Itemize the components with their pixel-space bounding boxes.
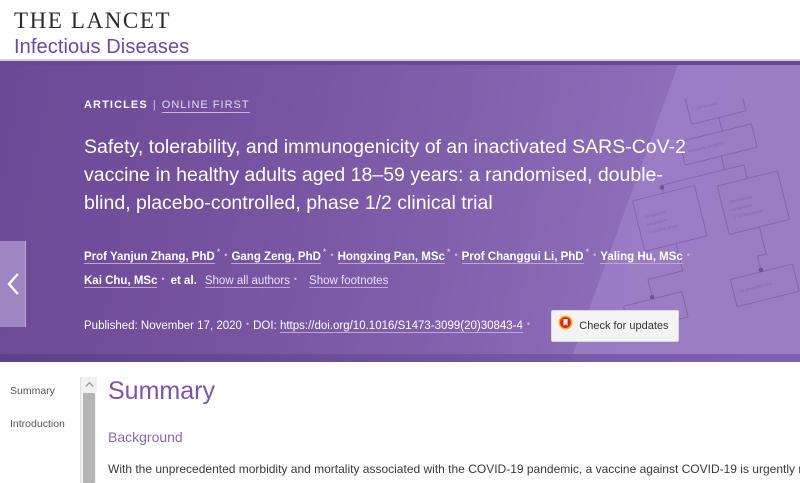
kicker-online-first-link[interactable]: ONLINE FIRST: [162, 99, 250, 113]
author-link[interactable]: Prof Changgui Li, PhD: [462, 251, 584, 264]
author-list: Prof Yanjun Zhang, PhD*•Gang Zeng, PhD*•…: [84, 241, 709, 292]
article-title: Safety, tolerability, and immunogenicity…: [84, 133, 704, 217]
toc-item-summary[interactable]: Summary: [10, 384, 68, 399]
summary-content: Summary Background With the unprecedente…: [108, 362, 800, 483]
scrollbar-thumb[interactable]: [83, 393, 95, 483]
show-all-authors-link[interactable]: Show all authors: [205, 275, 290, 288]
site-masthead: THE LANCET Infectious Diseases: [0, 0, 800, 62]
toc-scrollbar[interactable]: [80, 377, 96, 483]
crossmark-icon: [558, 315, 573, 337]
author-link[interactable]: Prof Yanjun Zhang, PhD: [84, 251, 215, 264]
previous-article-button[interactable]: [0, 241, 26, 327]
published-label: Published:: [84, 320, 138, 332]
author-separator: •: [326, 250, 337, 260]
author-link[interactable]: Gang Zeng, PhD: [231, 251, 320, 264]
scroll-up-button[interactable]: [81, 377, 97, 392]
author-link[interactable]: Kai Chu, MSc: [84, 275, 157, 288]
author-separator: •: [683, 250, 694, 260]
kicker-separator: |: [148, 99, 162, 111]
toc-item-introduction[interactable]: Introduction: [10, 417, 68, 432]
meta-separator: •: [242, 319, 253, 329]
author-separator: •: [450, 250, 461, 260]
summary-heading: Summary: [108, 376, 800, 406]
meta-separator: •: [523, 319, 534, 329]
hero-bottom-band: [0, 354, 800, 362]
publication-meta: Published: November 17, 2020•DOI: https:…: [84, 310, 800, 342]
article-body-section: Summary Introduction Summary Background …: [0, 362, 800, 483]
chevron-up-icon: [85, 381, 94, 388]
check-for-updates-label: Check for updates: [579, 316, 668, 336]
author-separator: •: [157, 274, 168, 284]
author-link[interactable]: Hongxing Pan, MSc: [338, 251, 445, 264]
show-footnotes-link[interactable]: Show footnotes: [309, 275, 388, 288]
masthead-brand[interactable]: THE LANCET Infectious Diseases: [0, 0, 800, 59]
author-separator: •: [589, 250, 600, 260]
journal-name: THE LANCET: [14, 8, 800, 34]
check-for-updates-button[interactable]: Check for updates: [551, 310, 678, 342]
author-separator: •: [290, 274, 301, 284]
author-separator: •: [220, 250, 231, 260]
doi-label: DOI:: [253, 320, 277, 332]
background-subheading: Background: [108, 428, 800, 446]
kicker-section: ARTICLES: [84, 99, 148, 111]
journal-subtitle: Infectious Diseases: [14, 35, 800, 59]
article-toc-sidebar: Summary Introduction: [0, 362, 76, 483]
published-date: November 17, 2020: [141, 320, 242, 332]
chevron-left-icon: [6, 273, 20, 295]
et-al-label: et al.: [169, 275, 197, 287]
doi-link[interactable]: https://doi.org/10.1016/S1473-3099(20)30…: [280, 320, 523, 333]
background-body-text: With the unprecedented morbidity and mor…: [108, 460, 800, 478]
article-page: THE LANCET Infectious Diseases: [0, 0, 800, 483]
article-kicker: ARTICLES|ONLINE FIRST: [84, 99, 800, 111]
author-link[interactable]: Yaling Hu, MSc: [600, 251, 682, 264]
article-hero-banner: 144 enrolled Randomly assigned 24 random…: [0, 65, 800, 362]
